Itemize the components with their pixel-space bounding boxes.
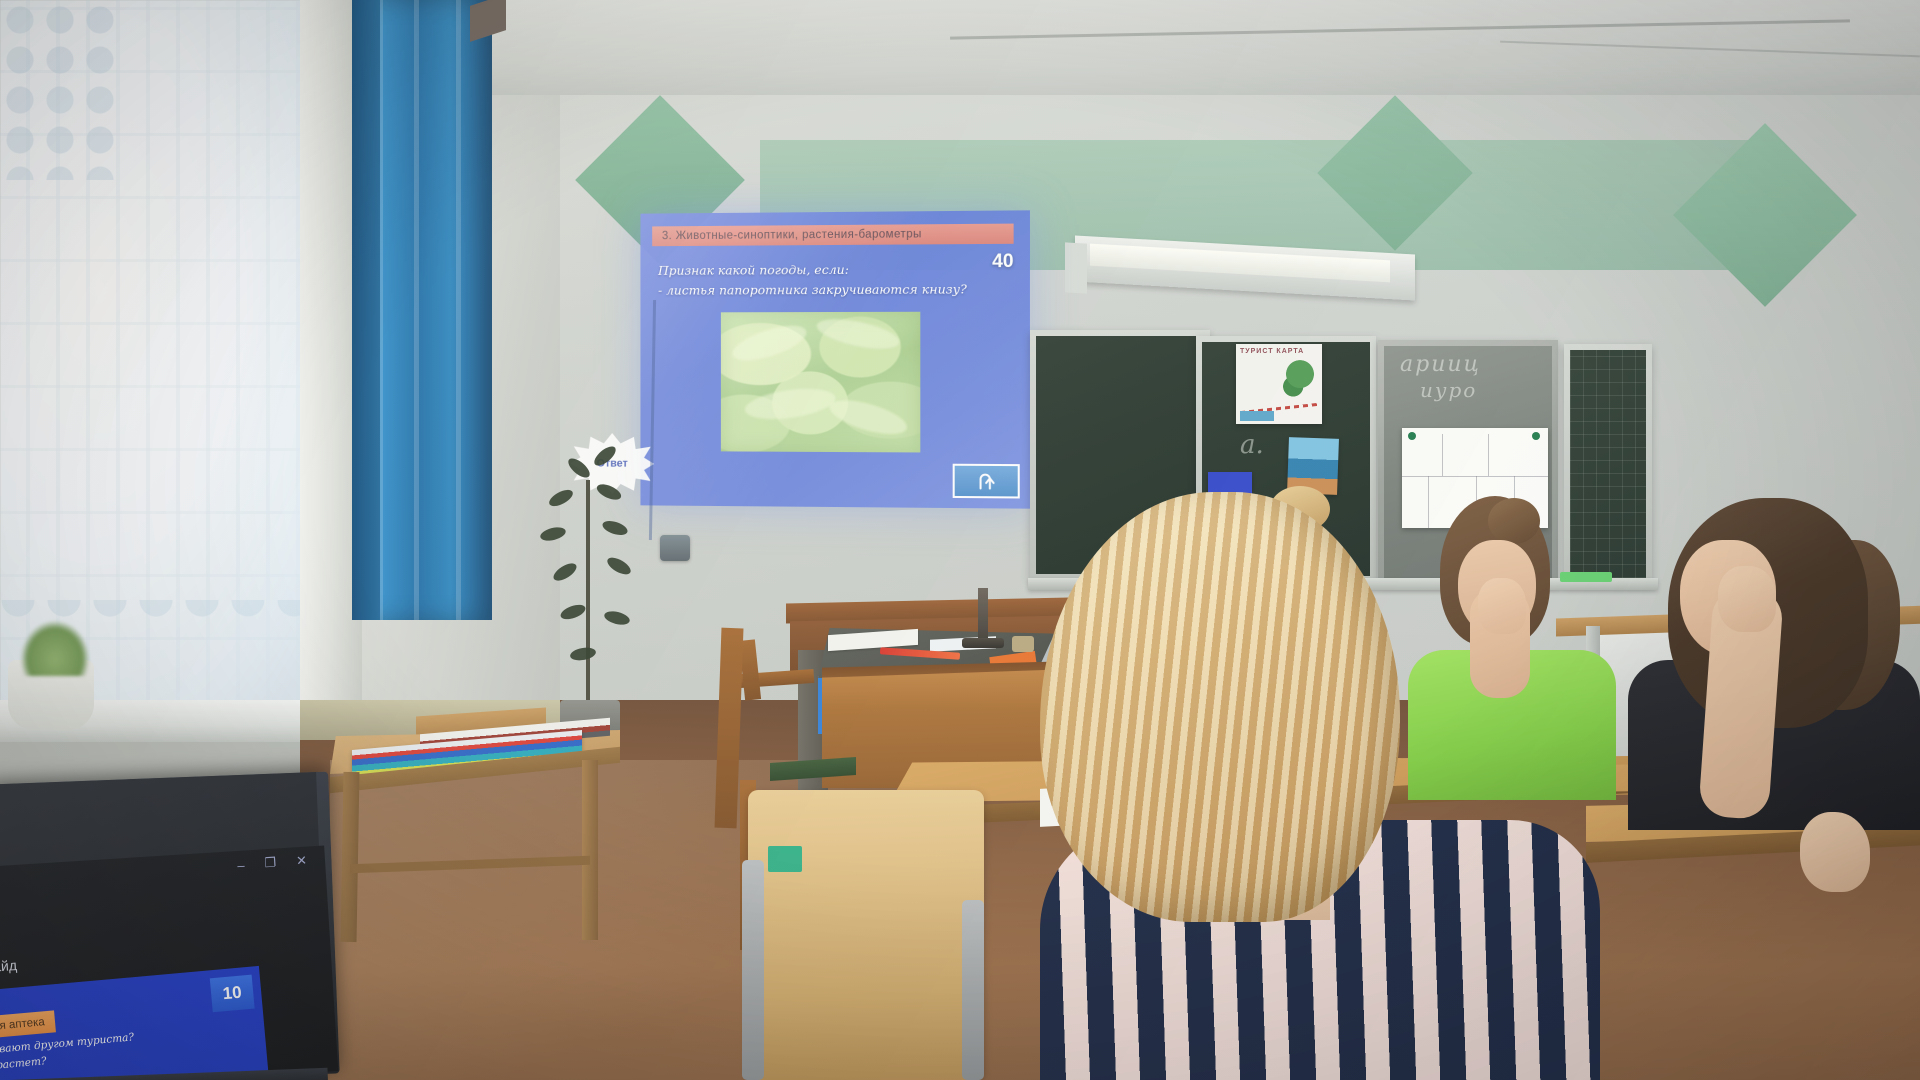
slide-question-line2: - листья папоротника закручиваются книзу… xyxy=(658,279,987,300)
ceiling-lamp-end-cap xyxy=(1065,242,1087,293)
fern-photo xyxy=(721,312,920,453)
return-nav-button[interactable] xyxy=(953,464,1020,499)
ficus-stem xyxy=(586,480,590,710)
lace-curtain-pattern-top xyxy=(0,0,120,180)
slide-question-line1: Признак какой погоды, если: xyxy=(658,259,987,281)
slide-category-bar: 3. Животные-синоптики, растения-барометр… xyxy=(652,224,1013,247)
laptop-screen[interactable]: – ❐ ✕ лайд 10 Лесная аптека …называют др… xyxy=(0,845,338,1080)
minimize-icon[interactable]: – xyxy=(237,857,245,872)
slide-category-title: 3. Животные-синоптики, растения-барометр… xyxy=(652,228,922,242)
slide-question: Признак какой погоды, если: - листья пап… xyxy=(658,259,987,300)
blonde-student-hair xyxy=(1040,492,1400,922)
green-student-hair-bun xyxy=(1488,498,1540,544)
student-poster-drawing: ТУРИСТ КАРТА xyxy=(1236,344,1322,424)
projected-slide: 3. Животные-синоптики, растения-барометр… xyxy=(640,210,1030,508)
side-table-leg-right xyxy=(582,760,598,940)
laptop[interactable]: – ❐ ✕ лайд 10 Лесная аптека …называют др… xyxy=(0,772,340,1080)
poster-title: ТУРИСТ КАРТА xyxy=(1240,348,1304,355)
blue-curtain-shadow-fold xyxy=(352,0,380,620)
slide-points: 40 xyxy=(992,251,1014,273)
poster-water-graphic xyxy=(1240,411,1274,421)
restore-icon[interactable]: ❐ xyxy=(264,855,277,872)
green-student-hand xyxy=(1478,578,1526,634)
side-table-leg-left xyxy=(341,772,360,942)
grid-chalkboard xyxy=(1570,350,1646,578)
poster-pin-right xyxy=(1532,432,1540,440)
desk-trophy-figurine xyxy=(978,588,988,642)
poster-tree-graphic xyxy=(1283,360,1317,404)
laptop-panel-label: лайд xyxy=(0,957,17,975)
offscreen-student-hand xyxy=(1800,812,1870,892)
wall-socket xyxy=(660,535,690,561)
chair-sticker-green xyxy=(768,846,802,872)
poster-pin-left xyxy=(1408,432,1416,440)
chalk-tray-green-object xyxy=(1560,572,1612,582)
window-controls: – ❐ ✕ xyxy=(237,853,308,873)
window-plant xyxy=(20,620,90,676)
classroom-photo: 3. Животные-синоптики, растения-барометр… xyxy=(0,0,1920,1080)
laptop-slide-points: 10 xyxy=(210,975,255,1013)
desk-small-object xyxy=(1012,636,1034,652)
desk-trophy-base xyxy=(962,638,1004,648)
laptop-slide-preview[interactable]: 10 Лесная аптека …называют другом турист… xyxy=(0,966,277,1080)
u-turn-arrow-icon xyxy=(975,470,997,492)
close-icon[interactable]: ✕ xyxy=(296,853,308,870)
dark-student-hand xyxy=(1718,566,1776,632)
